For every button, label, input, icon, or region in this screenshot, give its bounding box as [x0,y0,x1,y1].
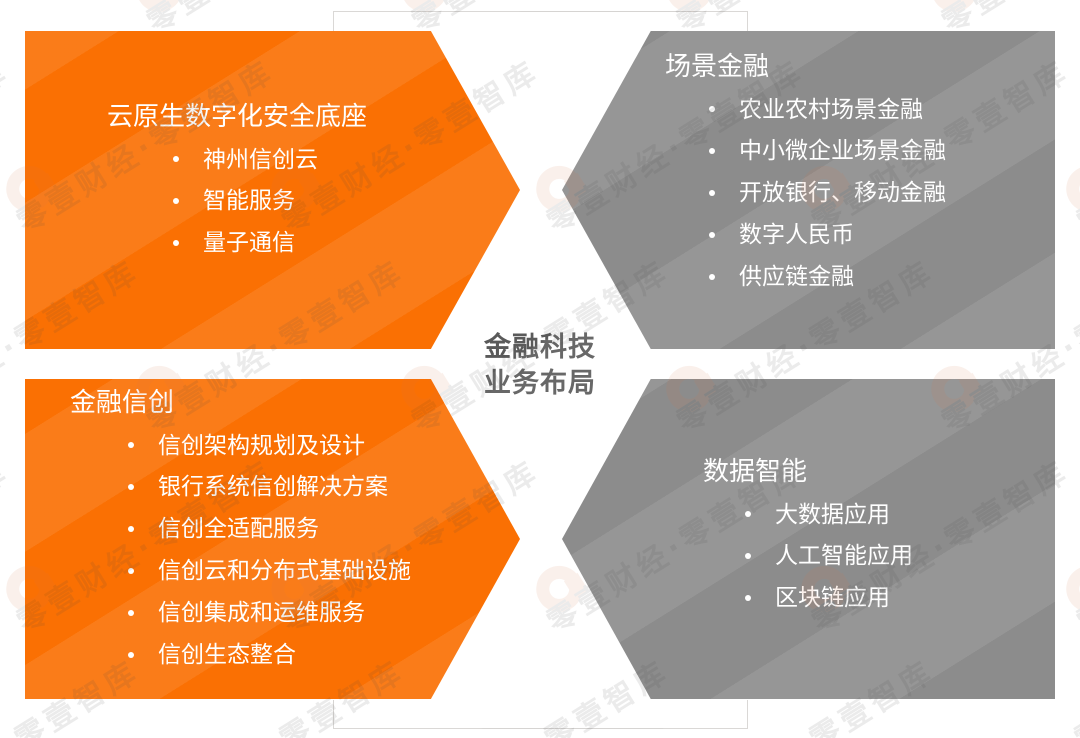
list-item-label: 农业农村场景金融 [739,96,923,122]
list-item: 量子通信 [163,222,367,264]
bullet-dot-icon [128,526,134,532]
bullet-dot-icon [745,553,751,559]
lingyi-ring-logo-icon [128,0,191,21]
watermark-text: 零壹财经·零壹智库 [1067,447,1080,641]
list-item-label: 中小微企业场景金融 [739,137,946,163]
quadrant-bottom-right-content: 数据智能 大数据应用 人工智能应用 区块链应用 [703,455,913,619]
list-item-label: 人工智能应用 [775,542,913,568]
connector-frame-bottom [333,700,748,729]
watermark-text: 零壹财经·零壹智库 [0,47,17,241]
bullet-dot-icon [128,568,134,574]
list-item-label: 供应链金融 [739,263,854,289]
list-item-label: 数字人民币 [739,221,854,247]
quadrant-bottom-right-list: 大数据应用 人工智能应用 区块链应用 [735,494,913,620]
lingyi-ring-logo-icon [1058,557,1080,620]
list-item: 信创生态整合 [118,634,411,676]
bullet-dot-icon [709,190,715,196]
list-item-label: 大数据应用 [775,501,890,527]
list-item-label: 信创全适配服务 [158,515,319,541]
list-item: 区块链应用 [735,577,913,619]
quadrant-bottom-left-title: 金融信创 [70,386,411,419]
watermark-text: 零壹财经·零壹智库 [0,447,17,641]
lingyi-ring-logo-icon [923,0,986,21]
quadrant-top-right-content: 场景金融 农业农村场景金融 中小微企业场景金融 开放银行、移动金融 数字人民币 … [665,50,946,298]
list-item-label: 信创集成和运维服务 [158,599,365,625]
bullet-dot-icon [128,484,134,490]
list-item-label: 量子通信 [203,229,295,255]
center-label-line-1: 金融科技 [465,330,615,366]
list-item: 中小微企业场景金融 [699,130,946,172]
list-item-label: 信创生态整合 [158,641,296,667]
quadrant-bottom-left-list: 信创架构规划及设计 银行系统信创解决方案 信创全适配服务 信创云和分布式基础设施… [118,425,411,676]
list-item: 大数据应用 [735,494,913,536]
list-item-label: 智能服务 [203,187,295,213]
quadrant-top-left-list: 神州信创云 智能服务 量子通信 [163,139,367,265]
bullet-dot-icon [709,106,715,112]
list-item: 信创全适配服务 [118,508,411,550]
list-item: 智能服务 [163,180,367,222]
list-item: 农业农村场景金融 [699,89,946,131]
bullet-dot-icon [709,274,715,280]
list-item: 数字人民币 [699,214,946,256]
watermark-text: 零壹财经·零壹智库 [1067,47,1080,241]
bullet-dot-icon [709,232,715,238]
quadrant-bottom-right-title: 数据智能 [703,455,913,488]
bullet-dot-icon [173,240,179,246]
list-item: 开放银行、移动金融 [699,172,946,214]
list-item: 信创集成和运维服务 [118,592,411,634]
list-item: 神州信创云 [163,139,367,181]
bullet-dot-icon [128,442,134,448]
lingyi-ring-logo-icon [1058,157,1080,220]
list-item-label: 开放银行、移动金融 [739,179,946,205]
bullet-dot-icon [745,511,751,517]
list-item: 人工智能应用 [735,535,913,577]
list-item: 信创架构规划及设计 [118,425,411,467]
bullet-dot-icon [745,595,751,601]
list-item-label: 区块链应用 [775,584,890,610]
diagram-canvas: 云原生数字化安全底座 神州信创云 智能服务 量子通信 场景金融 农业农村场景金融… [0,0,1080,738]
list-item: 信创云和分布式基础设施 [118,550,411,592]
list-item-label: 银行系统信创解决方案 [158,473,388,499]
list-item-label: 神州信创云 [203,146,318,172]
list-item: 银行系统信创解决方案 [118,466,411,508]
bullet-dot-icon [173,156,179,162]
bullet-dot-icon [173,198,179,204]
bullet-dot-icon [128,610,134,616]
list-item-label: 信创架构规划及设计 [158,432,365,458]
center-label-line-2: 业务布局 [465,366,615,402]
center-label: 金融科技 业务布局 [465,330,615,402]
quadrant-top-right-list: 农业农村场景金融 中小微企业场景金融 开放银行、移动金融 数字人民币 供应链金融 [699,89,946,298]
list-item: 供应链金融 [699,256,946,298]
quadrant-top-right-title: 场景金融 [665,50,946,83]
bullet-dot-icon [128,652,134,658]
quadrant-top-left-title: 云原生数字化安全底座 [105,100,367,133]
quadrant-top-left-content: 云原生数字化安全底座 神州信创云 智能服务 量子通信 [105,100,367,264]
quadrant-bottom-left-content: 金融信创 信创架构规划及设计 银行系统信创解决方案 信创全适配服务 信创云和分布… [70,386,411,676]
list-item-label: 信创云和分布式基础设施 [158,557,411,583]
bullet-dot-icon [709,148,715,154]
